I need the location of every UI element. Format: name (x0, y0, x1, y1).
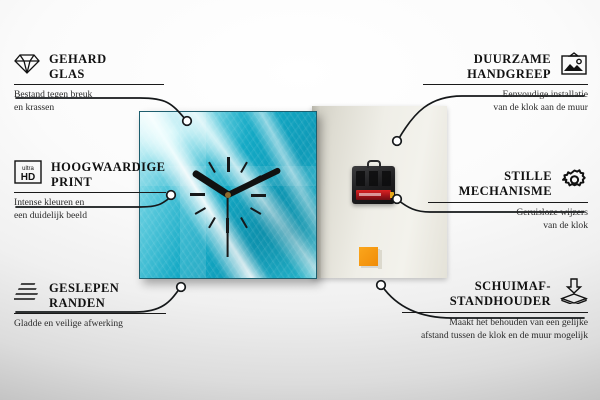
callout-title-line2: HANDGREEP (467, 67, 551, 81)
leader-endpoint-schuimafstandhouder (377, 281, 386, 290)
callout-desc-line2: afstand tussen de klok en de muur mogeli… (421, 330, 588, 341)
callout-divider (14, 84, 164, 85)
picture-frame-icon (560, 52, 588, 81)
callout-title-line1: STILLE (504, 169, 552, 183)
callout-divider (402, 312, 588, 313)
product-image (137, 103, 352, 283)
clock-second-hand (227, 195, 229, 257)
callout-title-line1: DUURZAME (474, 52, 551, 66)
callout-divider (14, 192, 166, 193)
callout-desc-line2: een duidelijk beeld (14, 210, 87, 221)
movement-hanger-hook (367, 160, 381, 168)
callout-schuimafstandhouder: SCHUIMAF- STANDHOUDER Maakt het behouden… (402, 278, 588, 342)
ultra-hd-icon-main-text: HD (21, 172, 35, 183)
clock-movement-box (352, 166, 395, 204)
callout-title-line1: GESLEPEN (49, 281, 119, 295)
callout-title-line1: HOOGWAARDIGE (51, 160, 165, 174)
callout-desc-line2: en krassen (14, 102, 54, 113)
gear-icon (561, 168, 588, 199)
foam-spacer-icon (560, 278, 588, 309)
callout-desc-line1: Eenvoudige installatie (502, 89, 588, 100)
callout-desc-line1: Bestand tegen breuk (14, 89, 92, 100)
callout-desc-line2: van de klok (543, 220, 588, 231)
callout-stille-mechanisme: STILLE MECHANISME Geruisloze wijzers van… (428, 168, 588, 232)
callout-title-line1: SCHUIMAF- (475, 279, 551, 293)
callout-hoogwaardige-print: ultra HD HOOGWAARDIGE PRINT Intense kleu… (14, 160, 166, 222)
clock-center-hub (225, 192, 231, 198)
leader-endpoint-geslepen-randen (177, 283, 186, 292)
callout-divider (423, 84, 588, 85)
callout-geslepen-randen: GESLEPEN RANDEN Gladde en veilige afwerk… (14, 281, 166, 331)
movement-vents (356, 171, 391, 186)
callout-desc-line2: van de klok aan de muur (493, 102, 588, 113)
callout-gehard-glas: GEHARD GLAS Bestand tegen breuk en krass… (14, 52, 164, 114)
callout-title-line1: GEHARD (49, 52, 107, 66)
ultra-hd-icon: ultra HD (14, 160, 42, 189)
clock-dial (140, 112, 316, 278)
battery (356, 190, 391, 200)
callout-divider (428, 202, 588, 203)
callout-divider (14, 313, 166, 314)
beveled-edges-icon (14, 282, 40, 309)
callout-desc-line1: Maakt het behouden van een gelijke (449, 317, 588, 328)
callout-desc-line1: Geruisloze wijzers (516, 207, 588, 218)
callout-title-line2: PRINT (51, 175, 92, 189)
callout-desc-line1: Gladde en veilige afwerking (14, 318, 123, 329)
callout-title-line2: STANDHOUDER (450, 294, 551, 308)
callout-title-line2: MECHANISME (459, 184, 552, 198)
callout-title-line2: GLAS (49, 67, 85, 81)
callout-desc-line1: Intense kleuren en (14, 197, 84, 208)
callout-duurzame-handgreep: DUURZAME HANDGREEP Eenvoudige installati… (423, 52, 588, 114)
diamond-icon (14, 53, 40, 80)
callout-title-line2: RANDEN (49, 296, 105, 310)
foam-spacer (359, 247, 378, 266)
